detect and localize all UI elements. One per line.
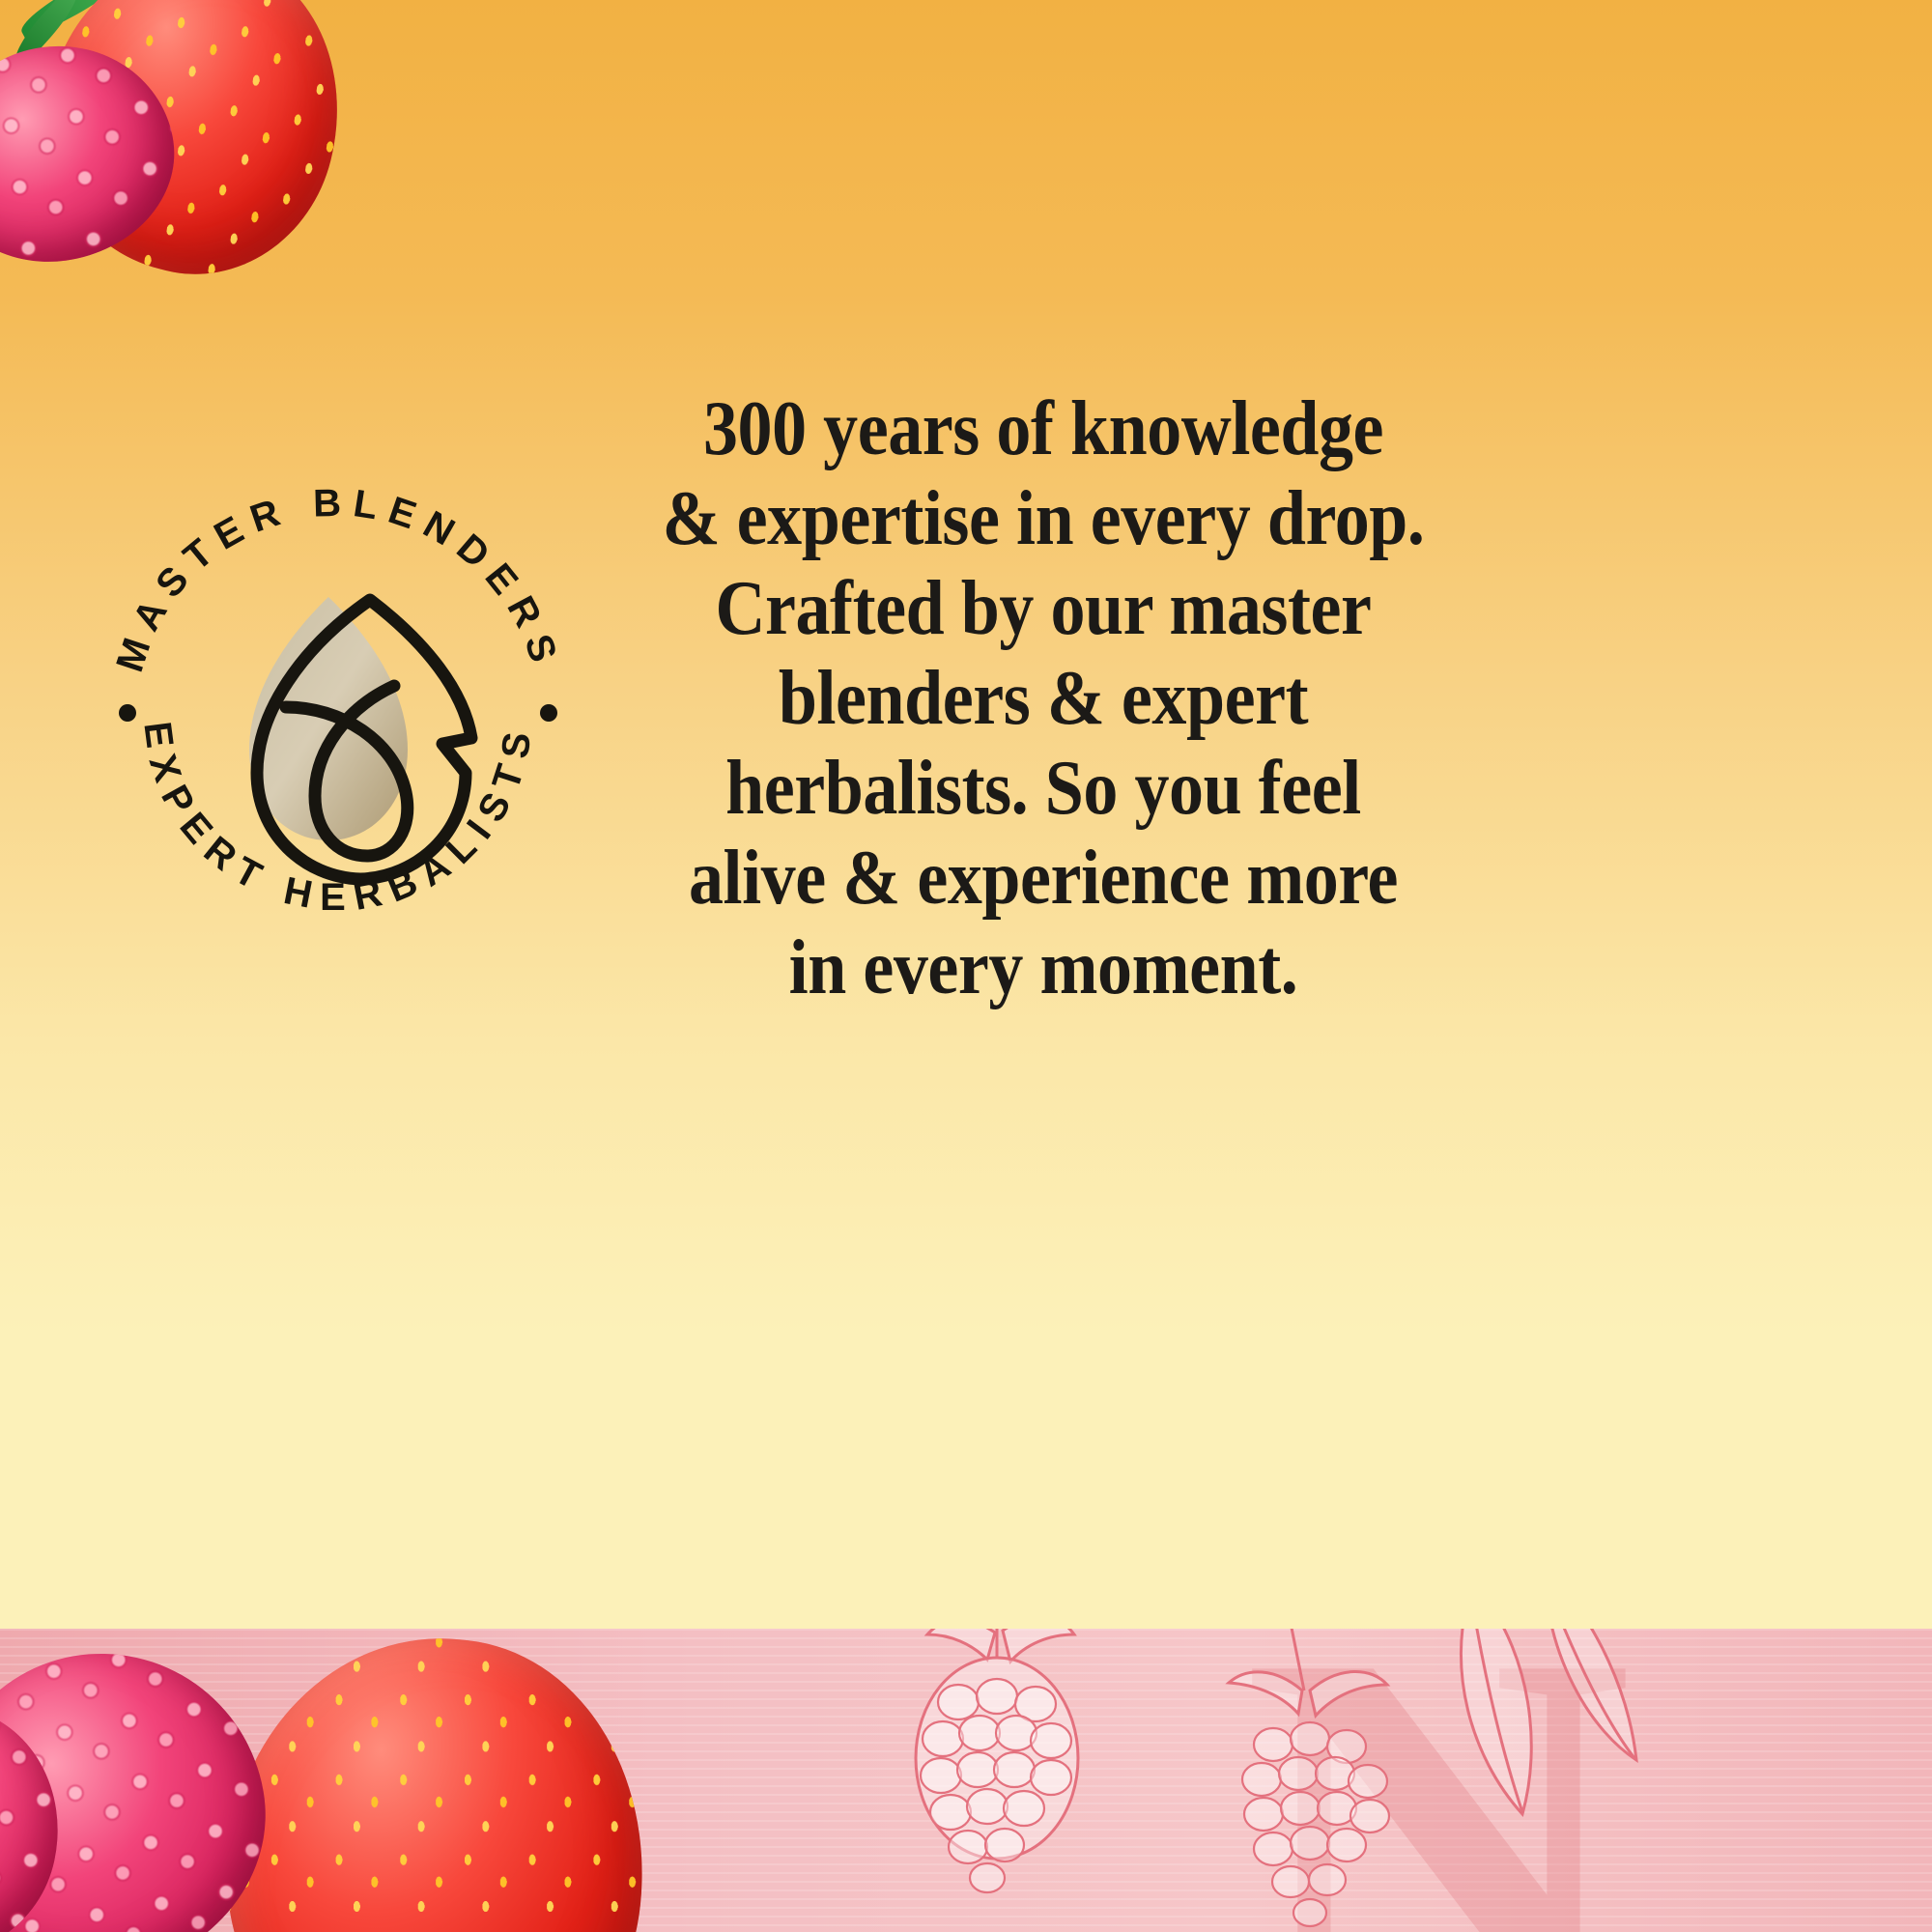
top-left-fruit-photo (0, 0, 361, 328)
promo-banner: MASTER BLENDERS EXPERT HERBALISTS 300 ye… (0, 0, 1932, 1932)
badge-left-dot-icon (119, 704, 136, 722)
bottom-left-fruit-photo (0, 1629, 643, 1932)
raspberry-fruit (0, 31, 187, 276)
raspberry-sketch-icon (1169, 1629, 1449, 1932)
copy-line: alive & experience more (643, 834, 1443, 923)
headline-copy: 300 years of knowledge & expertise in ev… (643, 384, 1443, 1013)
badge-right-dot-icon (540, 704, 557, 722)
copy-line: 300 years of knowledge (643, 384, 1443, 474)
copy-line: & expertise in every drop. (643, 474, 1443, 564)
copy-line: blenders & expert (643, 654, 1443, 744)
bottom-fruit-group (0, 1629, 643, 1932)
raspberry-sketch-icon (850, 1629, 1169, 1932)
raspberry-drupes (0, 31, 187, 276)
copy-line: herbalists. So you feel (643, 744, 1443, 834)
copy-line: in every moment. (643, 923, 1443, 1013)
copy-line: Crafted by our master (643, 564, 1443, 654)
raspberry-leaf-sketch-icon (1430, 1629, 1797, 1932)
master-blenders-badge: MASTER BLENDERS EXPERT HERBALISTS (87, 454, 589, 956)
